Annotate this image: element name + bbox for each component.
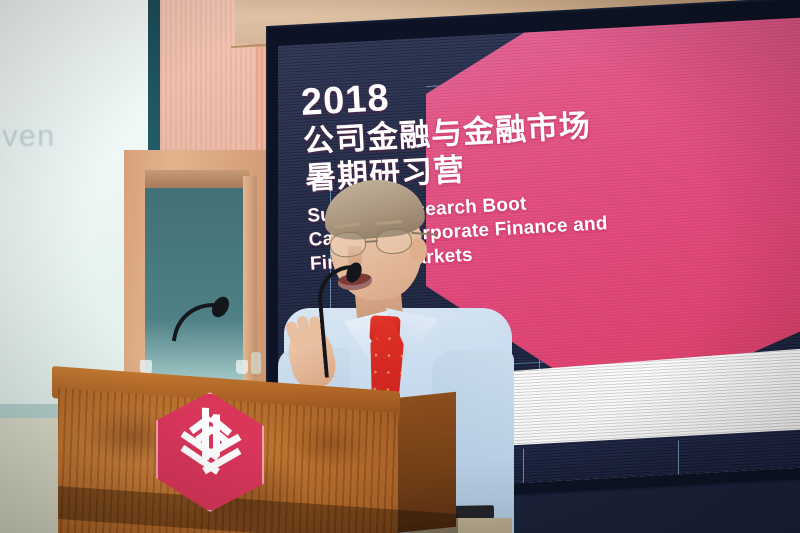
microphone-2-gooseneck [315, 264, 368, 377]
conference-photo: even 2018 公司金融与金融市场 暑期研习营 Summer Rese [0, 0, 800, 533]
cup-2 [236, 360, 248, 374]
glasses-temple [411, 232, 437, 236]
door-lintel [145, 170, 249, 188]
projection-text: even [0, 118, 124, 154]
glasses-lens-right [375, 228, 413, 255]
bottle [251, 352, 261, 374]
